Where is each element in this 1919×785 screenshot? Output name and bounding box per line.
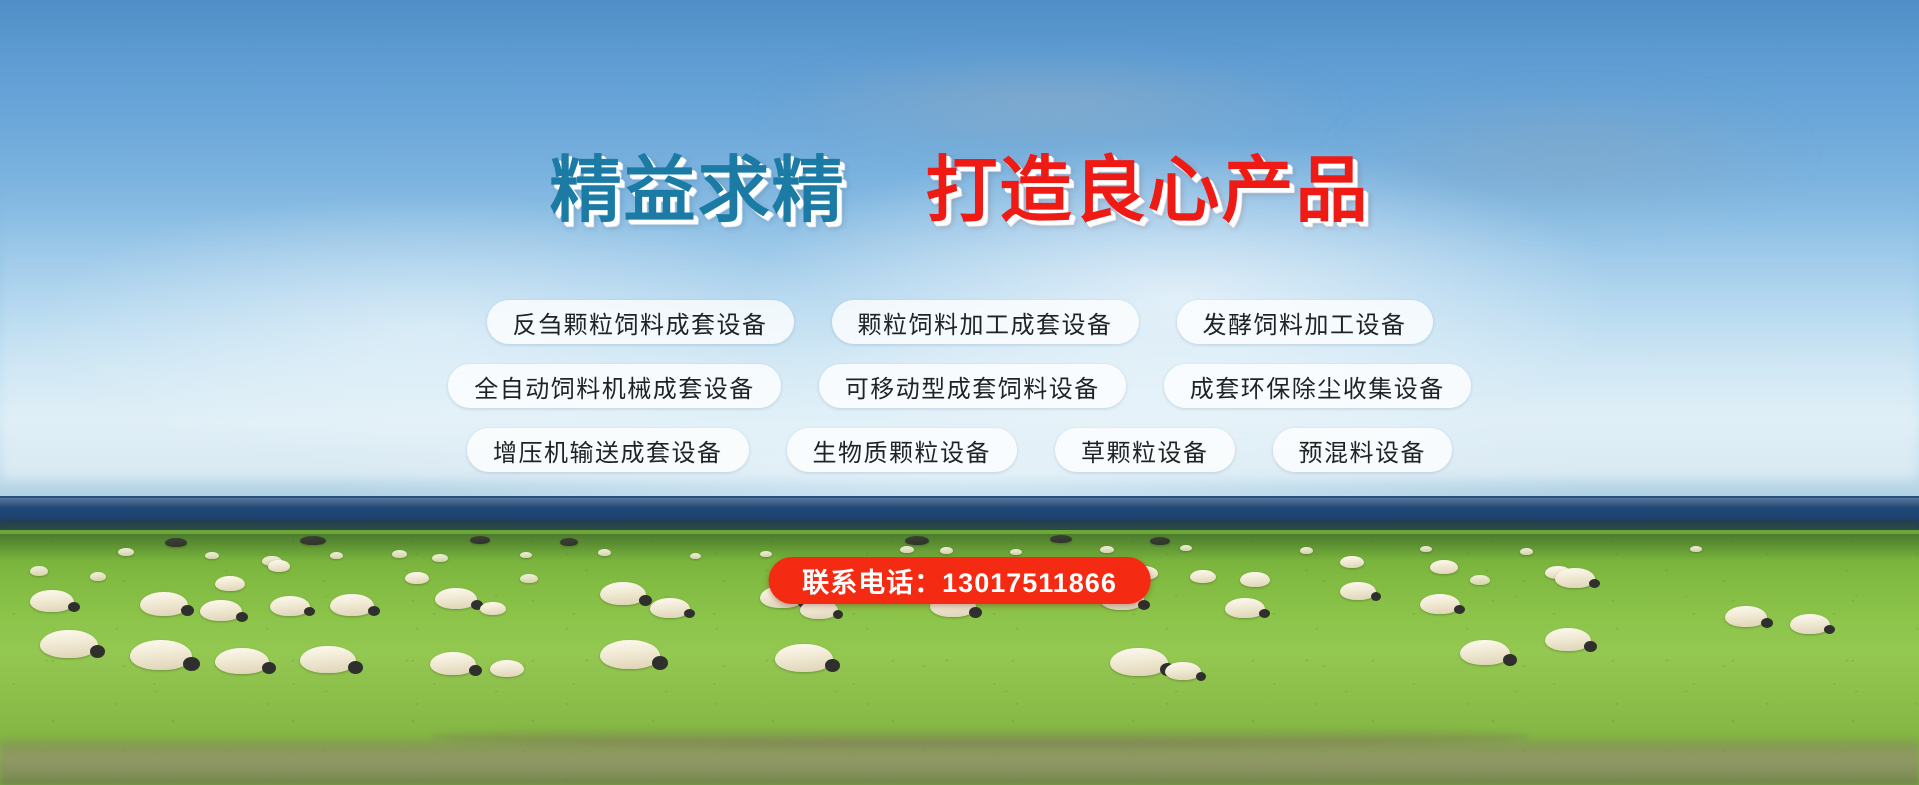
category-pill-ruminant-pellet-feed-complete[interactable]: 反刍颗粒饲料成套设备: [487, 300, 794, 344]
sheep-head: [1584, 641, 1597, 652]
category-pill-booster-conveying-complete[interactable]: 增压机输送成套设备: [467, 428, 749, 472]
sheep-head: [348, 661, 363, 674]
sheep: [215, 648, 269, 674]
sheep-head: [684, 609, 695, 618]
product-category-list: 反刍颗粒饲料成套设备 颗粒饲料加工成套设备 发酵饲料加工设备 全自动饲料机械成套…: [0, 300, 1919, 492]
sheep-head: [1503, 654, 1517, 666]
sheep: [1520, 548, 1533, 555]
sheep: [1100, 546, 1114, 553]
sheep-head: [1371, 592, 1381, 601]
sheep: [480, 602, 506, 615]
sheep-head: [969, 607, 982, 618]
sheep-head: [825, 659, 840, 672]
sheep: [392, 550, 407, 558]
sheep: [118, 548, 134, 556]
contact-phone-button[interactable]: 联系电话：13017511866: [768, 557, 1151, 604]
sheep: [300, 536, 326, 545]
sheep: [30, 566, 48, 576]
category-pill-mobile-complete-feed-equipment[interactable]: 可移动型成套饲料设备: [819, 364, 1126, 408]
sheep: [1010, 549, 1022, 555]
sheep-head: [1824, 625, 1835, 634]
sheep: [165, 538, 187, 547]
sheep-head: [262, 662, 276, 674]
sheep: [600, 640, 660, 669]
sheep: [432, 554, 448, 562]
sheep: [1050, 535, 1072, 543]
sheep: [775, 644, 833, 672]
category-pill-fermented-feed-processing[interactable]: 发酵饲料加工设备: [1177, 300, 1433, 344]
sheep: [1430, 560, 1458, 574]
sheep-head: [652, 656, 668, 670]
sheep: [40, 630, 98, 658]
sheep: [940, 547, 953, 554]
sheep-head: [90, 645, 105, 658]
product-category-row-1: 反刍颗粒饲料成套设备 颗粒饲料加工成套设备 发酵饲料加工设备: [0, 300, 1919, 344]
sheep: [1690, 546, 1702, 552]
sheep: [760, 551, 772, 557]
sheep-head: [368, 606, 380, 616]
sheep: [1180, 545, 1192, 551]
sheep: [330, 552, 343, 559]
sheep: [520, 552, 532, 558]
water-shimmer: [0, 498, 1919, 508]
category-pill-fully-automatic-feed-machinery[interactable]: 全自动饲料机械成套设备: [448, 364, 781, 408]
sheep-head: [181, 605, 194, 616]
sheep: [598, 549, 611, 556]
page-title: 精益求精 打造良心产品: [0, 155, 1919, 227]
dirt-path: [0, 735, 1919, 785]
sheep: [1470, 575, 1490, 585]
sheep-head: [1196, 672, 1206, 681]
category-pill-grass-pellet-equipment[interactable]: 草颗粒设备: [1055, 428, 1235, 472]
sheep-head: [68, 602, 80, 612]
sheep-head: [1589, 579, 1600, 588]
sheep: [1420, 546, 1432, 552]
sheep: [490, 660, 524, 677]
product-category-row-2: 全自动饲料机械成套设备 可移动型成套饲料设备 成套环保除尘收集设备: [0, 364, 1919, 408]
category-pill-biomass-pellet-equipment[interactable]: 生物质颗粒设备: [787, 428, 1018, 472]
sheep: [1240, 572, 1270, 587]
product-category-row-3: 增压机输送成套设备 生物质颗粒设备 草颗粒设备 预混料设备: [0, 428, 1919, 472]
headline-part-one: 精益求精: [549, 151, 845, 231]
sheep: [520, 574, 538, 583]
category-pill-pellet-feed-processing-complete[interactable]: 颗粒饲料加工成套设备: [832, 300, 1139, 344]
sheep: [1300, 547, 1313, 554]
sheep: [1190, 570, 1216, 583]
category-pill-environmental-dust-collection[interactable]: 成套环保除尘收集设备: [1164, 364, 1471, 408]
sheep: [1110, 648, 1168, 676]
sheep: [900, 546, 914, 553]
headline-part-two: 打造良心产品: [926, 151, 1370, 231]
promo-banner: 精益求精 打造良心产品 反刍颗粒饲料成套设备 颗粒饲料加工成套设备 发酵饲料加工…: [0, 0, 1919, 785]
sheep-head: [469, 665, 482, 676]
sheep-head: [1454, 605, 1465, 614]
sheep: [470, 536, 490, 544]
sheep-head: [1138, 600, 1150, 610]
sheep: [215, 576, 245, 591]
sheep-head: [639, 595, 652, 606]
sheep: [905, 536, 929, 545]
sheep: [90, 572, 106, 581]
sheep: [560, 538, 578, 546]
sheep: [1340, 556, 1364, 568]
sheep-head: [1259, 609, 1270, 618]
sheep-head: [1761, 618, 1773, 628]
sheep-head: [236, 612, 248, 622]
sheep: [1150, 537, 1170, 545]
sheep: [690, 553, 701, 559]
sheep: [405, 572, 429, 584]
sheep-head: [183, 657, 200, 671]
category-pill-premix-equipment[interactable]: 预混料设备: [1273, 428, 1453, 472]
sheep: [268, 560, 290, 572]
sheep: [205, 552, 219, 559]
sheep-head: [833, 610, 843, 619]
sheep-head: [304, 607, 315, 616]
